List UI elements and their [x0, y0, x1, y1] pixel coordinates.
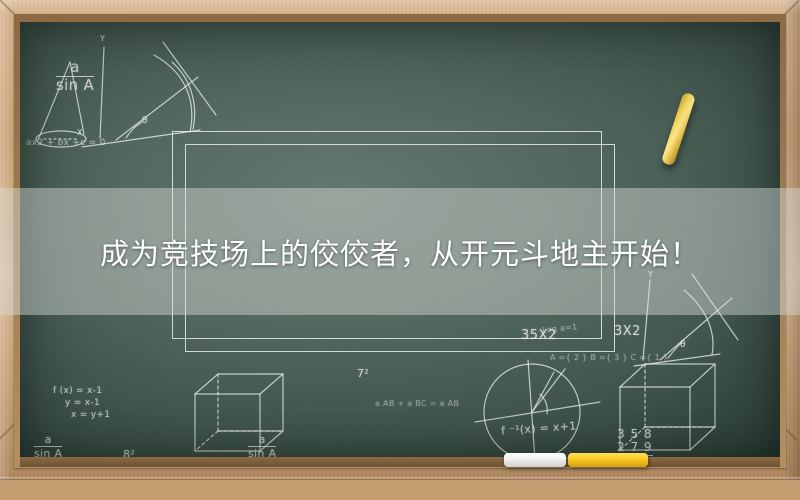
chalk-mult-3x2: 3X2	[614, 324, 641, 339]
chalk-tray	[20, 457, 780, 467]
chalk-inverse-function: f ⁻¹(x) = x+1	[501, 419, 577, 437]
chalk-quadratic-equation: ax2 + bx +c = 0	[26, 138, 106, 148]
chalk-ab-equation: a AB + a BC = a AB	[375, 399, 459, 408]
wireframe-cube-left	[195, 374, 283, 451]
wireframe-cube-right	[620, 364, 715, 450]
chalk-angle-theta2: θ	[680, 340, 686, 350]
chalk-stick-yellow	[568, 453, 648, 467]
chalk-axis-label-x: X	[77, 128, 83, 137]
caption-band: 成为竞技场上的佼佼者，从开元斗地主开始！	[0, 188, 800, 315]
banner-caption: 成为竞技场上的佼佼者，从开元斗地主开始！	[0, 231, 800, 273]
chalk-axis-label-y: Y	[100, 34, 105, 43]
frame-bottom-ledge	[0, 480, 800, 500]
chalk-law-of-sines-left: a sin A	[34, 434, 62, 459]
chalk-power-seven: 7²	[357, 367, 369, 380]
chalk-set-notation: A ={ 2 } B ={ 3 } C ={ 1 }	[550, 353, 668, 362]
chalk-function-set: f (x) = x-1 y = x-1 x = y+1	[53, 385, 110, 421]
chalkboard-banner: a sin A ax2 + bx +c = 0 Y X θ Y θ f (x) …	[0, 0, 800, 500]
cone-figure	[36, 62, 86, 147]
circle-axes-figure	[475, 360, 600, 460]
chalk-law-of-sines-top: a sin A	[56, 60, 94, 94]
chalk-law-of-sines-mid: a sin A	[248, 434, 276, 459]
chalk-angle-theta: θ	[142, 116, 148, 126]
chalk-stick-tilted	[661, 92, 696, 166]
chalk-stick-white	[504, 453, 566, 467]
